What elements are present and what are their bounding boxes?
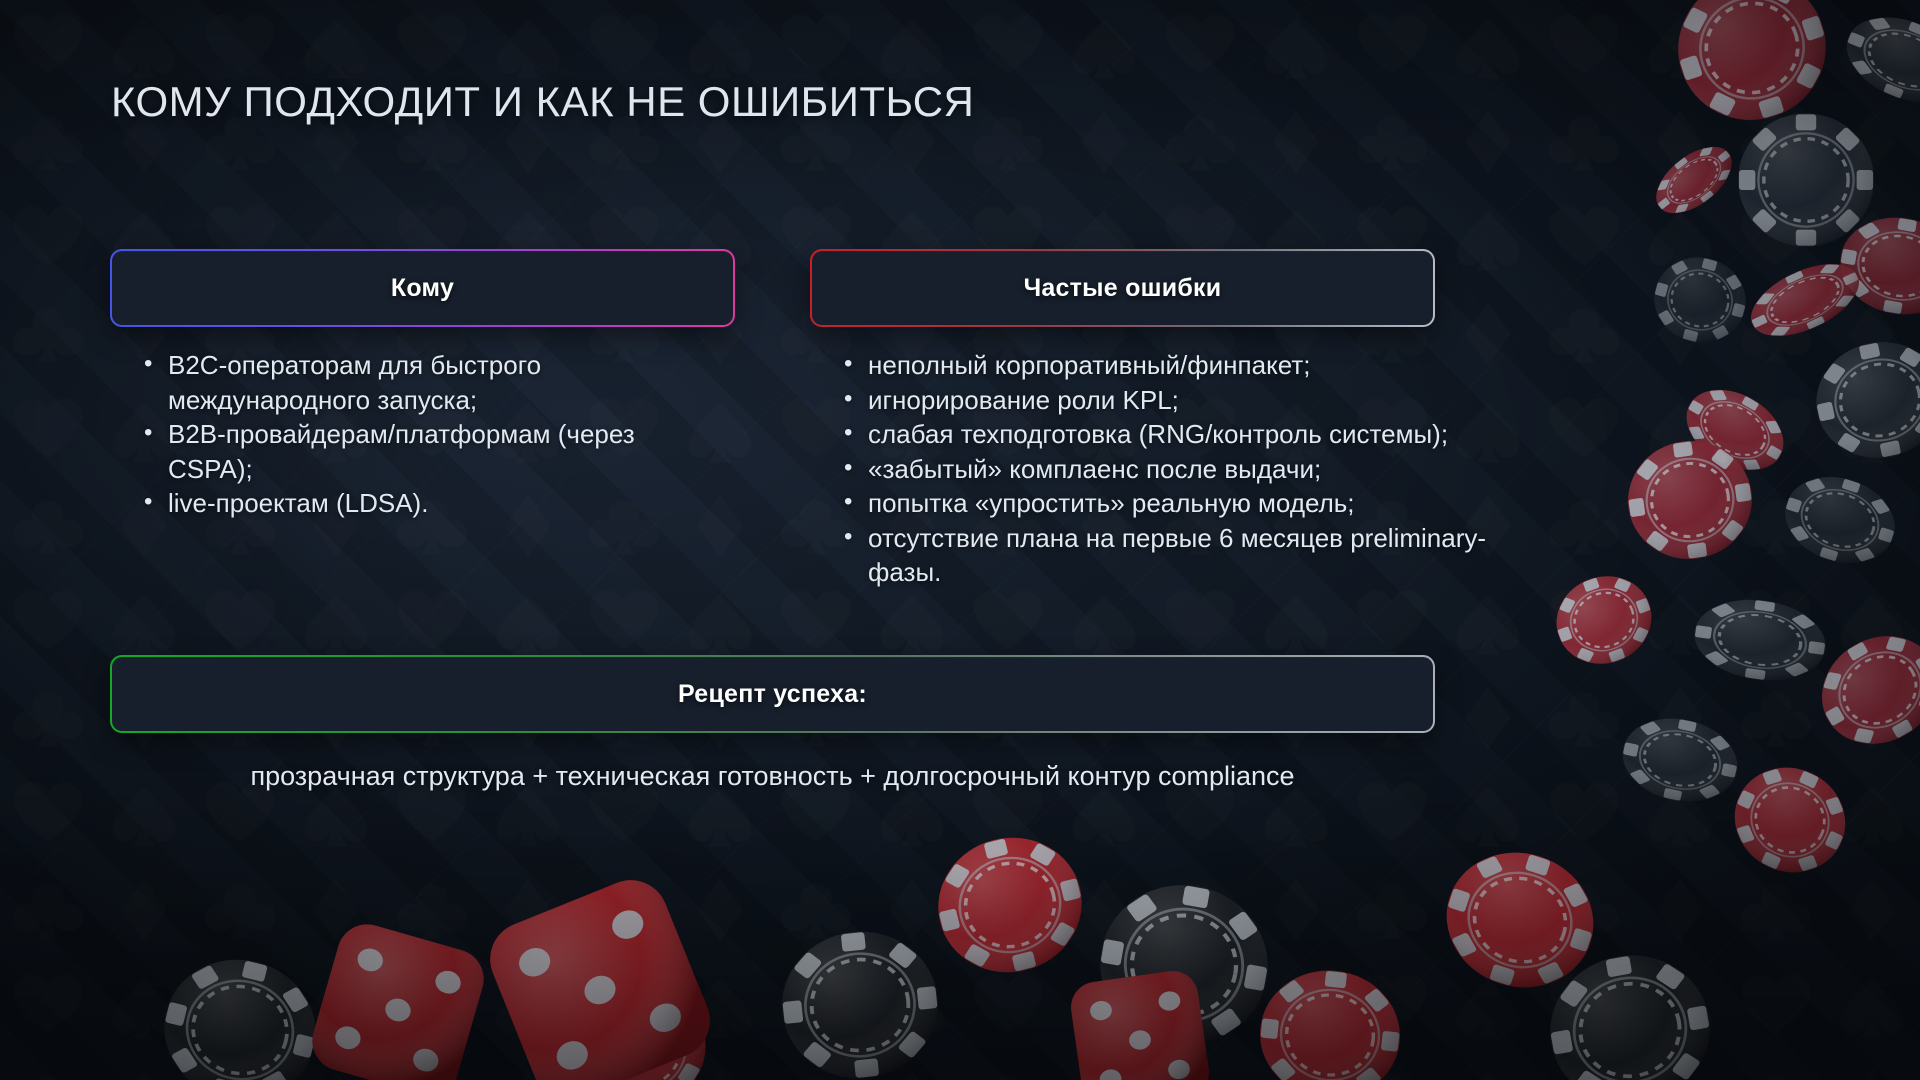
who-bullet-list: B2C-операторам для быстрого международно… xyxy=(135,348,715,521)
list-item: B2C-операторам для быстрого международно… xyxy=(135,348,715,417)
card-header-errors[interactable]: Частые ошибки xyxy=(810,249,1435,327)
card-header-recipe[interactable]: Рецепт успеха: xyxy=(110,655,1435,733)
recipe-body-text: прозрачная структура + техническая готов… xyxy=(110,757,1435,795)
card-header-who[interactable]: Кому xyxy=(110,249,735,327)
list-item: live-проектам (LDSA). xyxy=(135,486,715,521)
list-item: B2B-провайдерам/платформам (через CSPA); xyxy=(135,417,715,486)
page-title: КОМУ ПОДХОДИТ И КАК НЕ ОШИБИТЬСЯ xyxy=(111,78,974,126)
list-item: «забытый» комплаенс после выдачи; xyxy=(835,452,1515,487)
list-item: слабая техподготовка (RNG/контроль систе… xyxy=(835,417,1515,452)
list-item: игнорирование роли KPL; xyxy=(835,383,1515,418)
errors-bullet-list: неполный корпоративный/финпакет; игнорир… xyxy=(835,348,1515,590)
list-item: попытка «упростить» реальную модель; xyxy=(835,486,1515,521)
list-item: отсутствие плана на первые 6 месяцев pre… xyxy=(835,521,1515,590)
card-header-errors-label: Частые ошибки xyxy=(1024,274,1222,303)
list-item: неполный корпоративный/финпакет; xyxy=(835,348,1515,383)
card-header-who-label: Кому xyxy=(391,274,454,303)
card-header-recipe-label: Рецепт успеха: xyxy=(678,680,867,709)
